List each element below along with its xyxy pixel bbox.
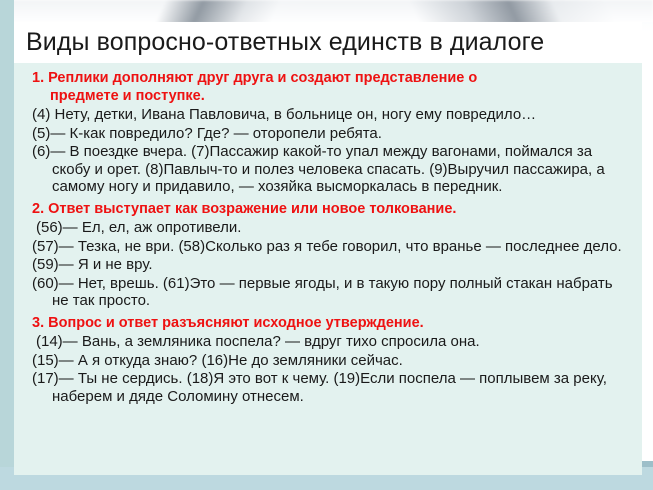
list-item: (4) Нету, детки, Ивана Павловича, в боль… [32,106,630,124]
page-title: Виды вопросно-ответных единств в диалоге [26,26,636,59]
list-item: (14)— Вань, а земляника поспела? — вдруг… [32,333,630,351]
section-heading-1-line1: 1. Реплики дополняют друг друга и создаю… [32,70,477,86]
section-heading-3: 3. Вопрос и ответ разъясняют исходное ут… [32,315,630,333]
section-heading-1: 1. Реплики дополняют друг друга и создаю… [32,70,630,105]
content-panel: 1. Реплики дополняют друг друга и создаю… [14,63,642,475]
section-heading-2-line1: 2. Ответ выступает как возражение или но… [32,201,456,217]
list-item: (17)— Ты не сердись. (18)Я это вот к чем… [32,370,630,405]
decorative-background-photo [0,0,653,24]
list-item: (59)— Я и не вру. [32,256,630,274]
section-heading-2: 2. Ответ выступает как возражение или но… [32,201,630,219]
list-item: (57)— Тезка, не ври. (58)Сколько раз я т… [32,238,630,256]
slide-canvas: Виды вопросно-ответных единств в диалоге… [0,0,653,490]
list-item: (60)— Нет, врешь. (61)Это — первые ягоды… [32,275,630,310]
content-body: 1. Реплики дополняют друг друга и создаю… [32,70,630,406]
list-item: (6)— В поездке вчера. (7)Пассажир какой-… [32,143,630,196]
list-item: (5)— К-как повредило? Где? — оторопели р… [32,125,630,143]
list-item: (56)— Ел, ел, аж опротивели. [32,219,630,237]
section-heading-1-line2: предмете и поступке. [32,88,630,106]
list-item: (15)— А я откуда знаю? (16)Не до земляни… [32,352,630,370]
section-heading-3-line1: 3. Вопрос и ответ разъясняют исходное ут… [32,315,424,331]
left-accent-strip [0,0,14,478]
